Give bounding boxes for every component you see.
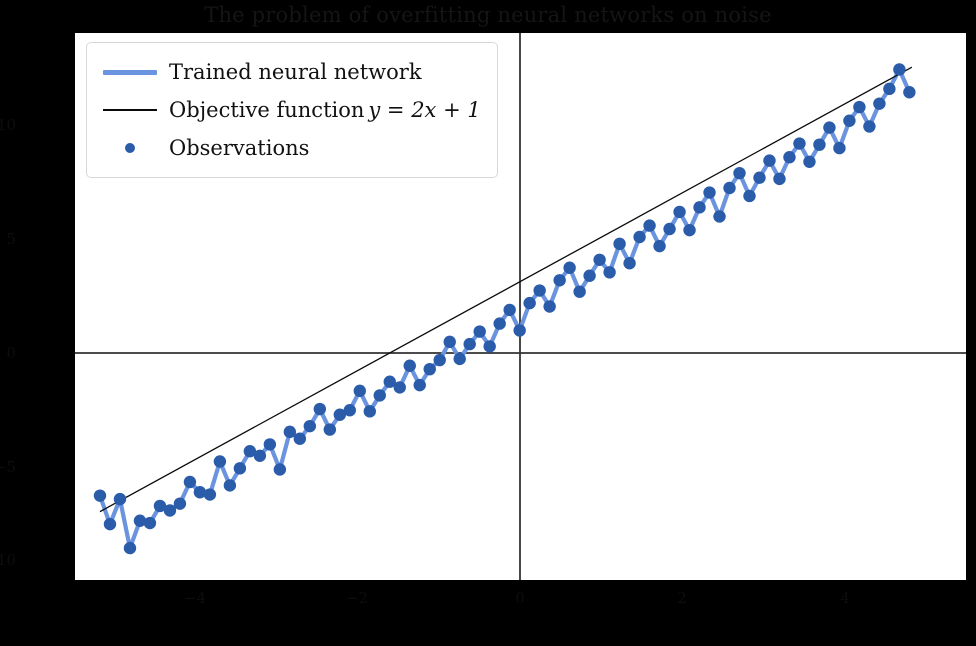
observation-point — [184, 476, 196, 488]
observation-point — [474, 325, 486, 337]
legend-label-objective-function: Objective functiony = 2x + 1 — [163, 98, 481, 122]
observation-point — [823, 121, 835, 133]
observation-point — [753, 172, 765, 184]
observation-point — [773, 173, 785, 185]
observation-point — [643, 219, 655, 231]
legend-key-line-icon — [97, 70, 163, 75]
observation-point — [394, 381, 406, 393]
x-tick-label: 4 — [840, 589, 850, 607]
observation-point — [603, 266, 615, 278]
observation-point — [583, 270, 595, 282]
observation-point — [294, 432, 306, 444]
legend-label-trained-network: Trained neural network — [163, 60, 422, 84]
observation-point — [693, 201, 705, 213]
chart-figure: The problem of overfitting neural networ… — [0, 0, 976, 646]
observation-point — [713, 210, 725, 222]
y-tick-label: −10 — [0, 551, 16, 569]
observation-point — [783, 151, 795, 163]
y-tick-label: −5 — [0, 458, 16, 476]
observation-point — [454, 353, 466, 365]
observation-point — [513, 324, 525, 336]
observation-point — [833, 142, 845, 154]
observation-point — [104, 518, 116, 530]
observation-point — [853, 101, 865, 113]
legend-key-thin-line-icon — [97, 109, 163, 111]
chart-legend: Trained neural network Objective functio… — [86, 42, 498, 178]
observation-point — [573, 285, 585, 297]
y-tick-label: 0 — [6, 344, 16, 362]
observation-point — [174, 497, 186, 509]
observation-point — [563, 262, 575, 274]
observation-point — [593, 254, 605, 266]
observation-point — [733, 167, 745, 179]
observation-point — [224, 479, 236, 491]
observation-point — [533, 284, 545, 296]
observation-point — [434, 354, 446, 366]
observation-point — [723, 182, 735, 194]
observation-point — [623, 257, 635, 269]
y-tick-label: 10 — [0, 116, 16, 134]
observation-point — [114, 493, 126, 505]
observation-point — [144, 517, 156, 529]
legend-item-trained-network: Trained neural network — [97, 53, 481, 91]
observation-point — [803, 156, 815, 168]
legend-item-observations: Observations — [97, 129, 481, 167]
observation-point — [743, 190, 755, 202]
observation-point — [553, 274, 565, 286]
observation-point — [354, 385, 366, 397]
observation-point — [493, 317, 505, 329]
observation-point — [703, 186, 715, 198]
observation-point — [324, 423, 336, 435]
observation-point — [673, 206, 685, 218]
chart-title: The problem of overfitting neural networ… — [0, 2, 976, 28]
observation-point — [414, 379, 426, 391]
observation-point — [364, 405, 376, 417]
observation-point — [344, 404, 356, 416]
observation-point — [653, 240, 665, 252]
observation-point — [374, 389, 386, 401]
observation-point — [94, 489, 106, 501]
legend-item-objective-function: Objective functiony = 2x + 1 — [97, 91, 481, 129]
observation-point — [863, 120, 875, 132]
observation-point — [763, 154, 775, 166]
legend-label-observations: Observations — [163, 136, 309, 160]
x-tick-label: 0 — [515, 589, 525, 607]
observation-point — [483, 340, 495, 352]
observation-point — [883, 83, 895, 95]
observation-point — [444, 336, 456, 348]
observation-point — [304, 420, 316, 432]
y-tick-label: 5 — [6, 230, 16, 248]
observation-point — [314, 403, 326, 415]
legend-label-objective-text: Objective function — [169, 98, 364, 122]
observation-point — [274, 463, 286, 475]
observation-point — [813, 138, 825, 150]
observation-point — [613, 238, 625, 250]
observation-point — [893, 63, 905, 75]
observation-point — [683, 224, 695, 236]
legend-label-objective-equation: y = 2x + 1 — [364, 98, 480, 122]
observation-point — [254, 450, 266, 462]
legend-key-dot-icon — [97, 143, 163, 153]
observation-point — [214, 455, 226, 467]
observation-point — [424, 363, 436, 375]
observation-point — [633, 231, 645, 243]
observation-point — [543, 300, 555, 312]
observation-point — [234, 462, 246, 474]
x-tick-label: −2 — [346, 589, 368, 607]
observation-point — [124, 542, 136, 554]
observation-point — [503, 304, 515, 316]
observation-point — [663, 223, 675, 235]
observation-point — [523, 297, 535, 309]
x-tick-label: −4 — [184, 589, 206, 607]
observation-point — [793, 137, 805, 149]
observation-point — [873, 97, 885, 109]
observation-point — [404, 360, 416, 372]
observation-point — [464, 338, 476, 350]
x-tick-label: 2 — [677, 589, 687, 607]
observation-point — [204, 488, 216, 500]
observation-point — [903, 86, 915, 98]
observation-point — [264, 438, 276, 450]
observation-point — [843, 115, 855, 127]
